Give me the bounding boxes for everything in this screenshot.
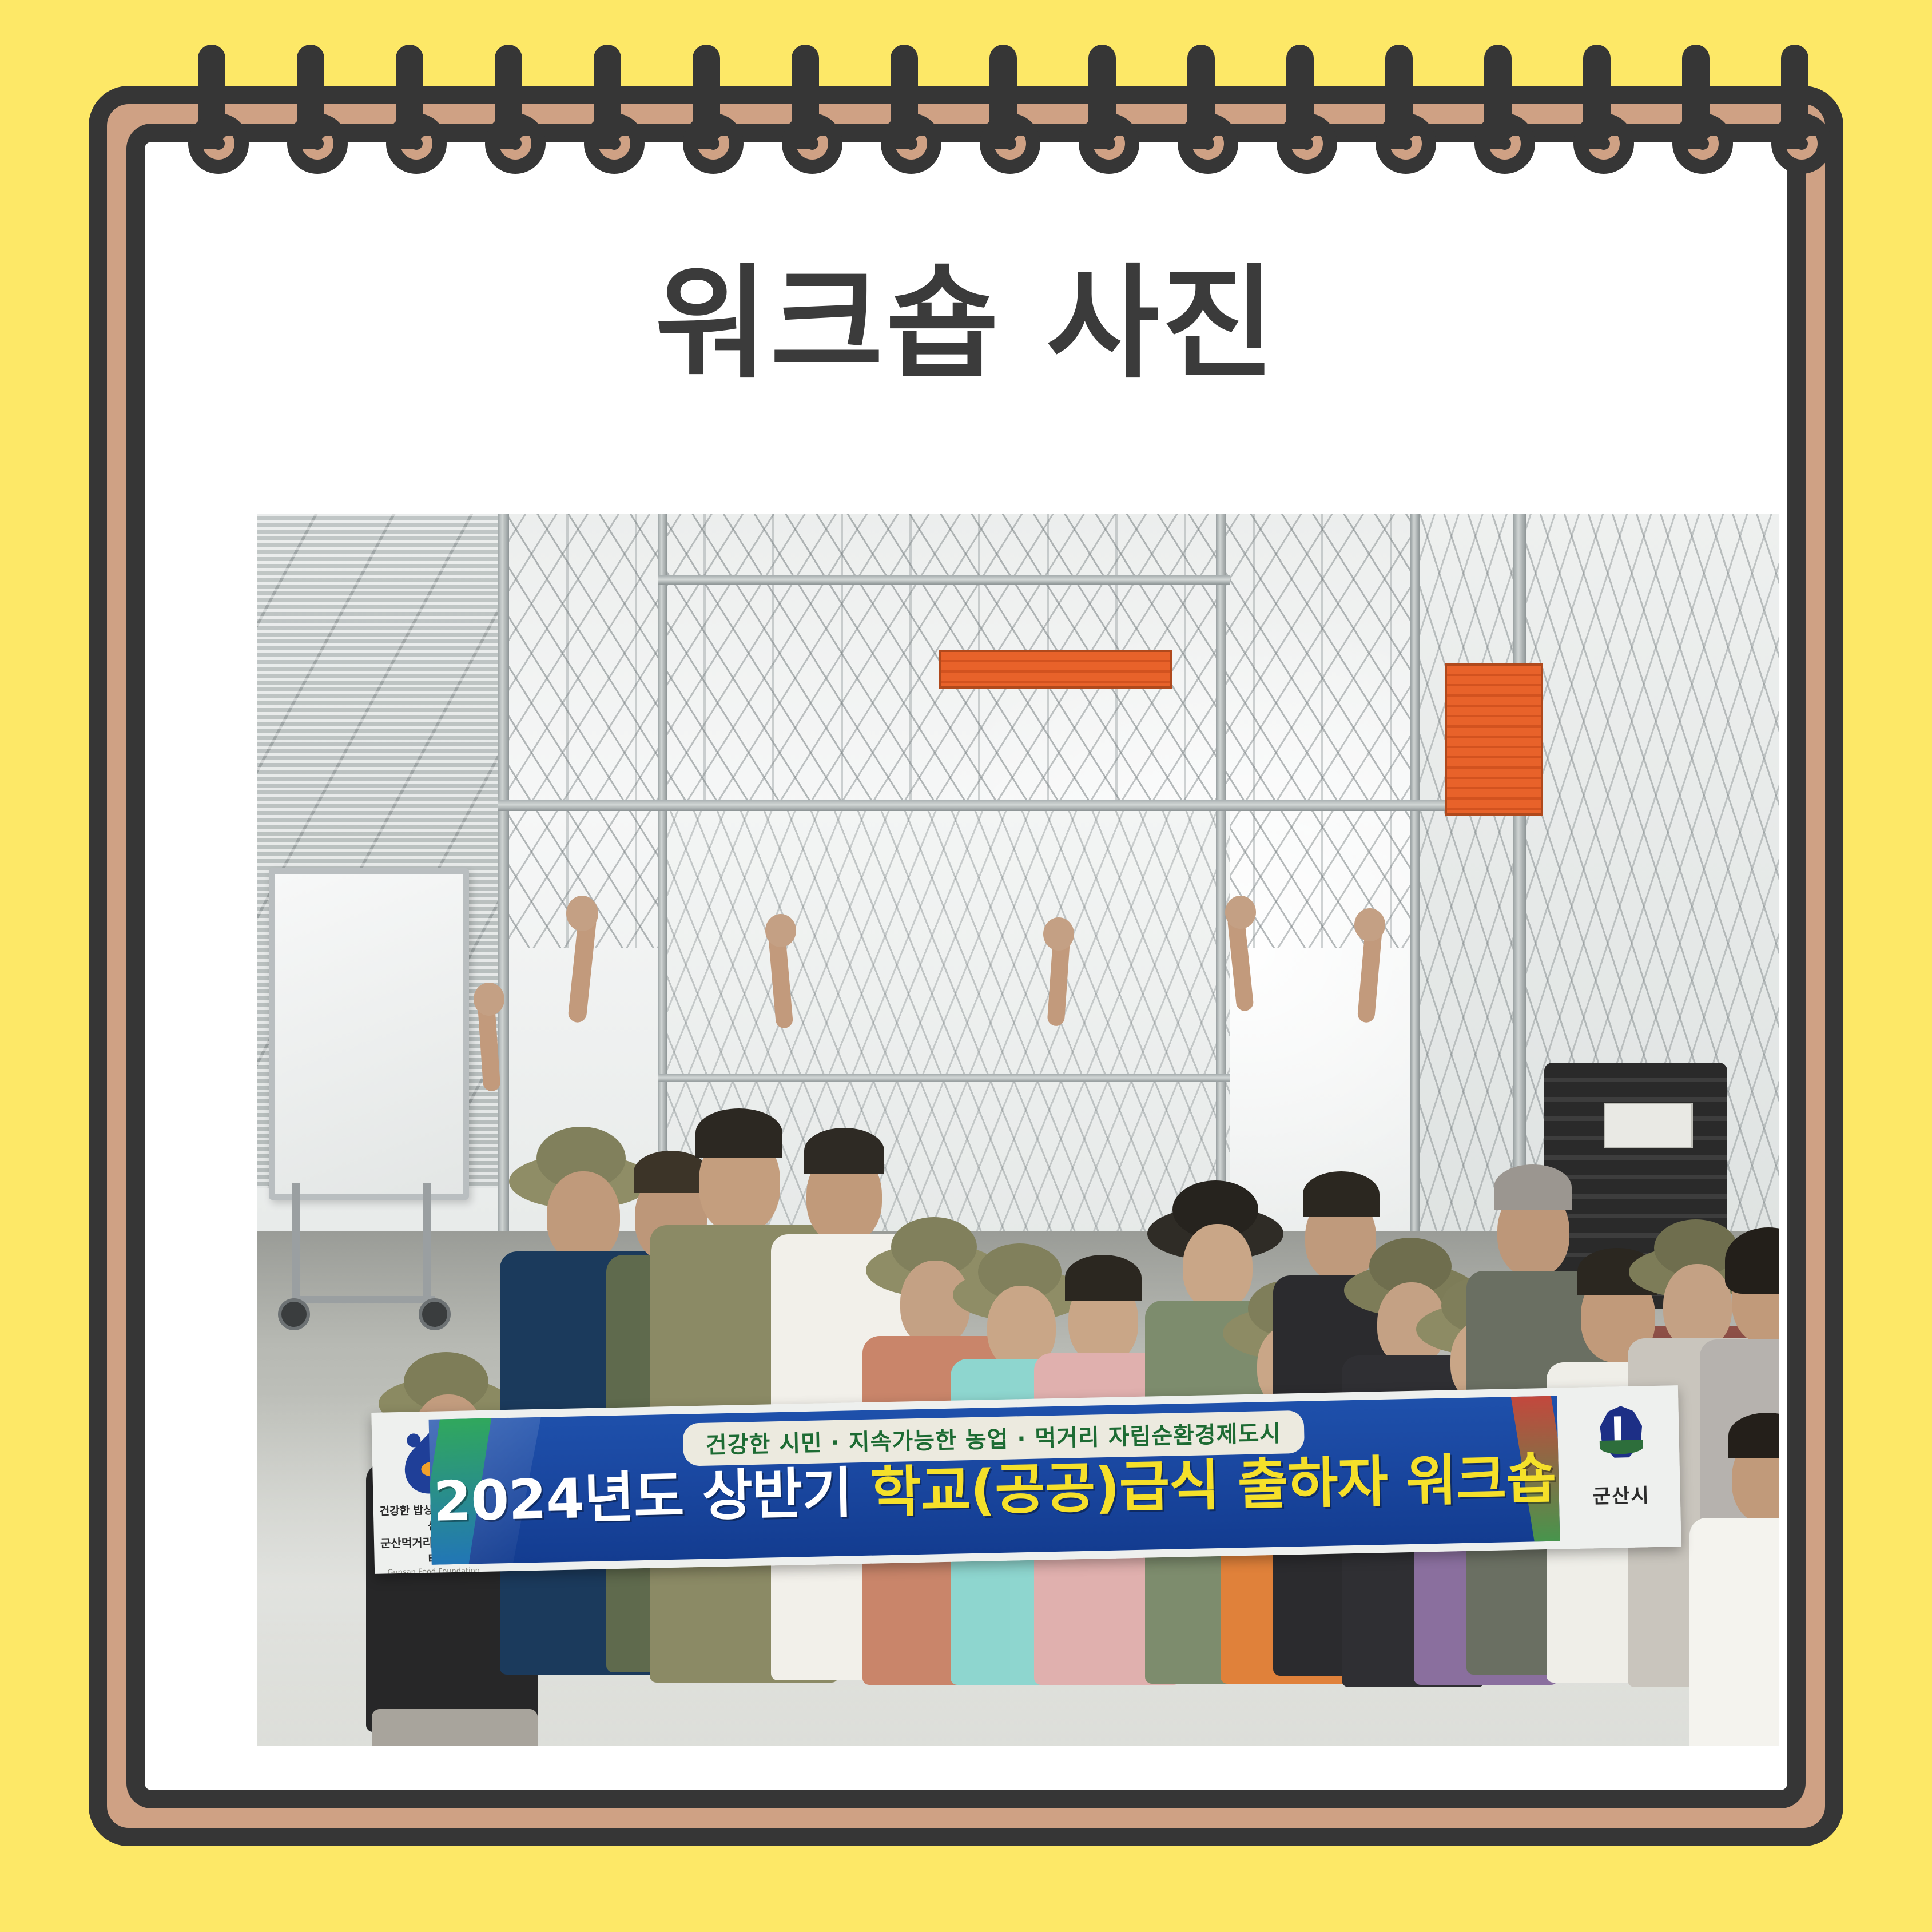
whiteboard-leg (423, 1183, 431, 1303)
gunsan-city-logo: 군산시 (1566, 1398, 1675, 1534)
face (547, 1171, 620, 1262)
vertical-beam (658, 514, 667, 1251)
whiteboard-leg (292, 1183, 300, 1303)
photo-content: 건강한 밥상, 행복한 군산 군산먹거리통합지원센터 Gunsan Food F… (257, 514, 1779, 1746)
city-name: 군산시 (1568, 1479, 1675, 1509)
whiteboard-wheel (278, 1298, 310, 1330)
city-logo-mark (1586, 1402, 1654, 1477)
horizontal-beam (658, 575, 1230, 585)
horizontal-beam (498, 800, 1527, 811)
hair (695, 1108, 782, 1158)
hair (804, 1128, 884, 1174)
raised-fist (566, 896, 598, 931)
vertical-beam (1216, 514, 1226, 1251)
raised-fist (1043, 917, 1074, 951)
face (1183, 1224, 1253, 1310)
hair (1065, 1255, 1142, 1301)
event-banner: 건강한 밥상, 행복한 군산 군산먹거리통합지원센터 Gunsan Food F… (371, 1385, 1681, 1574)
hair (1303, 1171, 1380, 1217)
hair (1494, 1164, 1572, 1210)
raised-fist (765, 914, 796, 947)
vertical-beam (498, 514, 509, 1263)
banner-blue-panel: 건강한 시민 · 지속가능한 농업 · 먹거리 자립순환경제도시 2024년도 … (429, 1396, 1560, 1565)
raised-fist (1225, 896, 1256, 929)
page-title: 워크숍 사진 (145, 262, 1787, 385)
whiteboard (269, 868, 469, 1200)
notebook-page: 워크숍 사진 (126, 124, 1806, 1808)
horizontal-beam (658, 1074, 1230, 1082)
vertical-beam (1410, 514, 1420, 1240)
raised-fist (474, 983, 504, 1016)
banner-title-yellow: 학교(공공)급식 출하자 워크숍 (870, 1446, 1557, 1525)
whiteboard-base (292, 1296, 435, 1303)
vertical-beam (1513, 514, 1526, 1246)
banner-title-white: 2024년도 상반기 (432, 1461, 852, 1533)
workshop-photo: 건강한 밥상, 행복한 군산 군산먹거리통합지원센터 Gunsan Food F… (257, 514, 1779, 1746)
legs (372, 1709, 538, 1746)
whiteboard-wheel (419, 1298, 451, 1330)
torso (1689, 1518, 1779, 1746)
city-wave-icon (1600, 1440, 1643, 1454)
banner-title: 2024년도 상반기 학교(공공)급식 출하자 워크숍 (430, 1451, 1560, 1529)
equipment-sign (1604, 1103, 1693, 1148)
face (1663, 1264, 1732, 1349)
notebook-card: 워크숍 사진 (89, 86, 1843, 1846)
raised-fist (1354, 908, 1385, 941)
orange-door-upper (939, 650, 1172, 689)
orange-door-right (1445, 663, 1543, 816)
